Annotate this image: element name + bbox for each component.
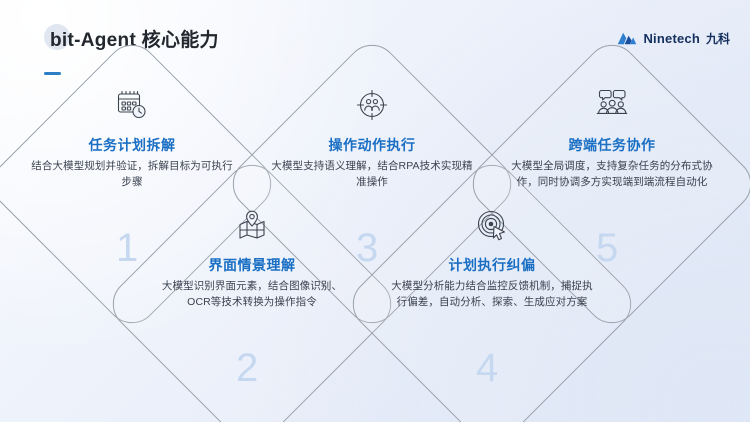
- step-number-1: 1: [116, 228, 138, 268]
- capability-diagram: 任务计划拆解 结合大模型规划并验证，拆解目标为可执行步骤 界面情景理解 大模型识…: [0, 60, 750, 422]
- card-title: 界面情景理解: [137, 255, 367, 275]
- map-pin-icon: [137, 205, 367, 245]
- step-number-2: 2: [236, 348, 258, 388]
- card-title: 跨端任务协作: [497, 135, 727, 155]
- card-description: 大模型全局调度，支持复杂任务的分布式协作，同时协调多方实现端到端流程自动化: [497, 158, 727, 191]
- step-number-5: 5: [596, 228, 618, 268]
- crosshair-people-icon: [257, 85, 487, 125]
- ninetech-logo-icon: [617, 31, 637, 46]
- card-description: 大模型识别界面元素，结合图像识别、OCR等技术转换为操作指令: [137, 278, 367, 311]
- brand-name: Ninetech: [643, 31, 700, 46]
- card-description: 结合大模型规划并验证，拆解目标为可执行步骤: [17, 158, 247, 191]
- brand-name-cn: 九科: [706, 30, 730, 47]
- card-title: 计划执行纠偏: [377, 255, 607, 275]
- capability-card-4[interactable]: 计划执行纠偏 大模型分析能力结合监控反馈机制，捕捉执行偏差，自动分析、探索、生成…: [377, 205, 607, 311]
- step-number-4: 4: [476, 348, 498, 388]
- capability-card-3[interactable]: 操作动作执行 大模型支持语义理解，结合RPA技术实现精准操作: [257, 85, 487, 191]
- team-chat-icon: [497, 85, 727, 125]
- brand-logo: Ninetech 九科: [617, 30, 730, 47]
- step-number-3: 3: [356, 228, 378, 268]
- calendar-clock-icon: [17, 85, 247, 125]
- target-cursor-icon: [377, 205, 607, 245]
- card-description: 大模型分析能力结合监控反馈机制，捕捉执行偏差，自动分析、探索、生成应对方案: [377, 278, 607, 311]
- card-title: 任务计划拆解: [17, 135, 247, 155]
- capability-card-5[interactable]: 跨端任务协作 大模型全局调度，支持复杂任务的分布式协作，同时协调多方实现端到端流…: [497, 85, 727, 191]
- card-title: 操作动作执行: [257, 135, 487, 155]
- capability-card-2[interactable]: 界面情景理解 大模型识别界面元素，结合图像识别、OCR等技术转换为操作指令: [137, 205, 367, 311]
- capability-card-1[interactable]: 任务计划拆解 结合大模型规划并验证，拆解目标为可执行步骤: [17, 85, 247, 191]
- card-description: 大模型支持语义理解，结合RPA技术实现精准操作: [257, 158, 487, 191]
